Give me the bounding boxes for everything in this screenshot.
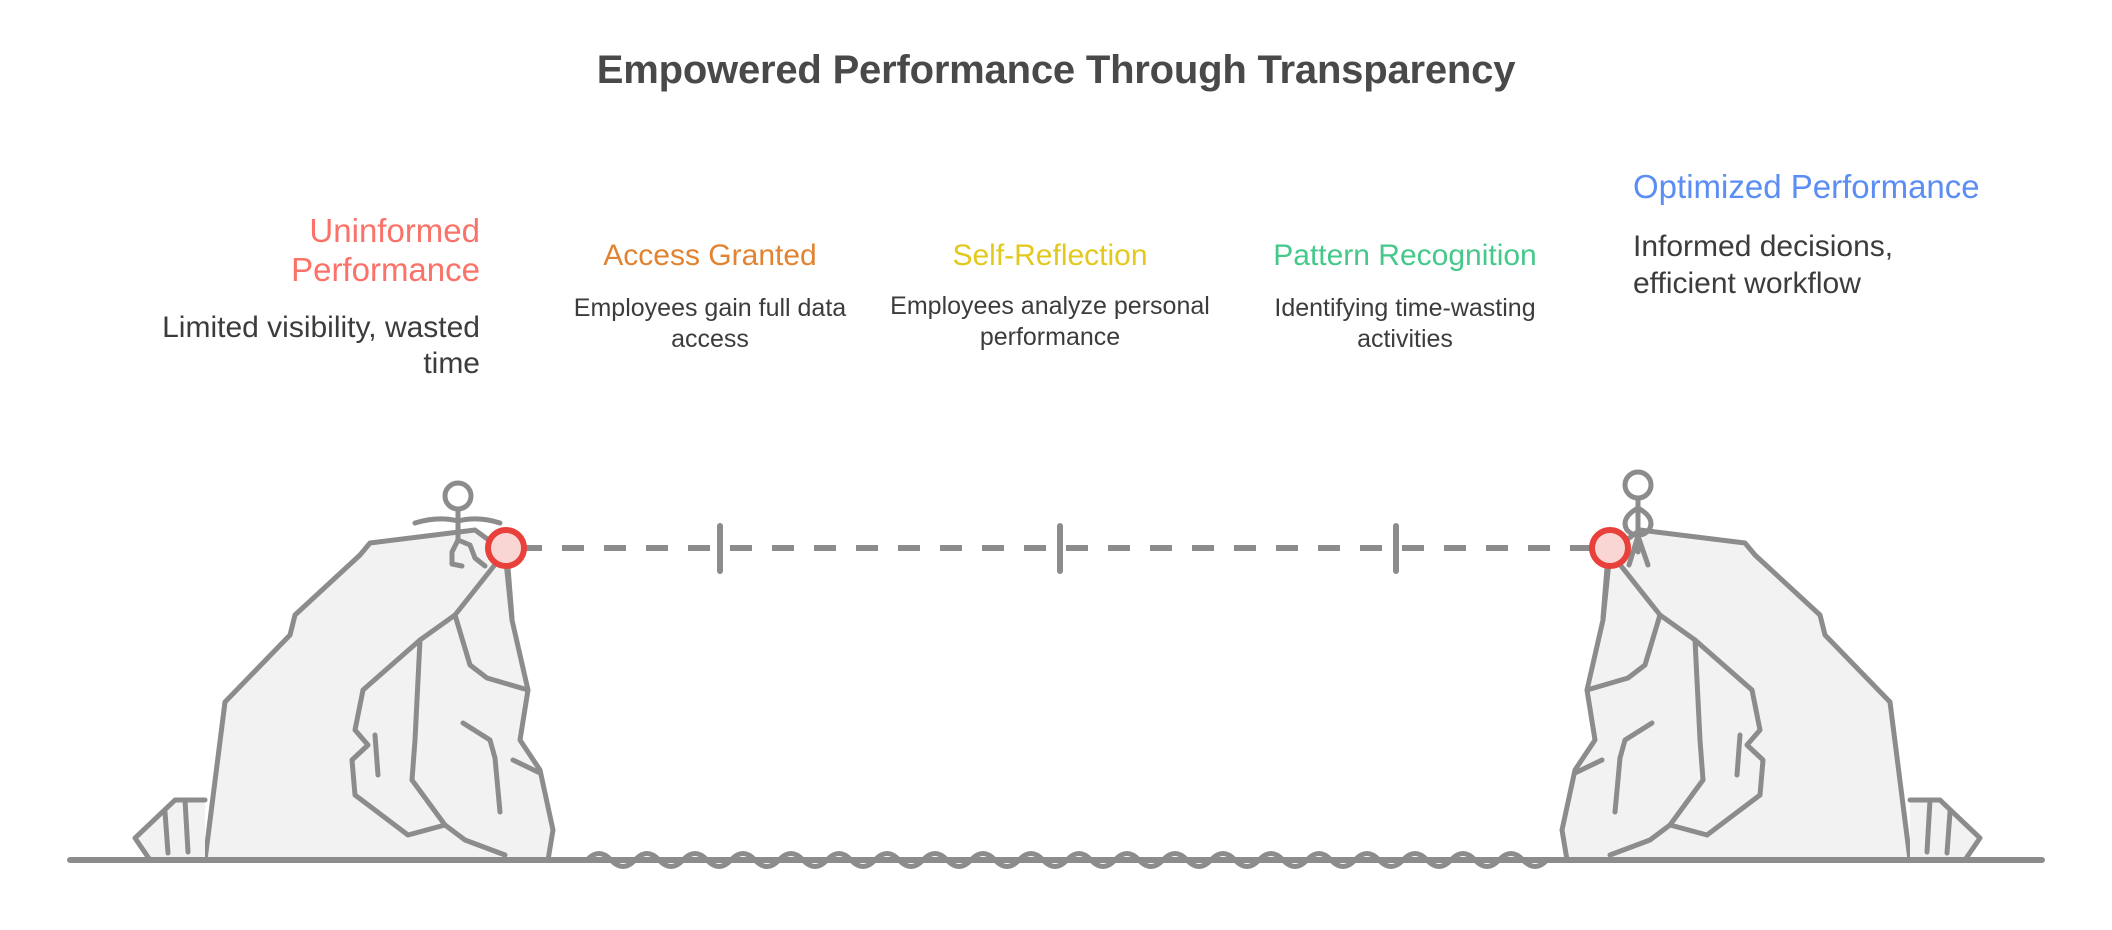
stage-optimized-performance: Optimized Performance Informed decisions… [1633,168,1993,302]
mountain-peak-right-icon [1562,530,1980,860]
stage-uninformed-performance: Uninformed Performance Limited visibilit… [130,212,480,383]
stick-figure-head [445,483,471,509]
water-wave-line [587,854,1547,867]
mountain-left-foot-crack-1 [185,800,188,852]
stage-description: Limited visibility, wasted time [130,310,480,383]
mountain-journey-illustration [0,440,2112,900]
stage-description: Identifying time-wasting activities [1255,293,1555,354]
mountain-right-foot-crack-1 [1927,800,1930,852]
stage-heading: Optimized Performance [1633,168,1993,207]
stage-self-reflection: Self-Reflection Employees analyze person… [890,238,1210,352]
stage-access-granted: Access Granted Employees gain full data … [560,238,860,354]
stage-heading: Pattern Recognition [1255,238,1555,273]
stage-heading: Uninformed Performance [130,212,480,290]
red-circle-marker-icon[interactable] [1592,530,1628,566]
red-circle-marker-icon[interactable] [488,530,524,566]
stage-description: Employees gain full data access [560,293,860,354]
page-title: Empowered Performance Through Transparen… [0,48,2112,93]
stick-figure-arms [415,519,500,523]
mountain-right-crack-1 [1737,735,1740,775]
stage-description: Employees analyze personal performance [890,291,1210,352]
mountain-left-crack-1 [375,735,378,775]
mountain-left-foot-crack-2 [165,812,168,853]
stage-heading: Access Granted [560,238,860,273]
stick-figure-head [1625,472,1651,498]
mountain-right-foot-crack-2 [1947,812,1950,853]
stage-pattern-recognition: Pattern Recognition Identifying time-was… [1255,238,1555,354]
infographic-canvas: Empowered Performance Through Transparen… [0,0,2112,930]
stage-heading: Self-Reflection [890,238,1210,273]
stage-description: Informed decisions, efficient workflow [1633,229,1993,302]
